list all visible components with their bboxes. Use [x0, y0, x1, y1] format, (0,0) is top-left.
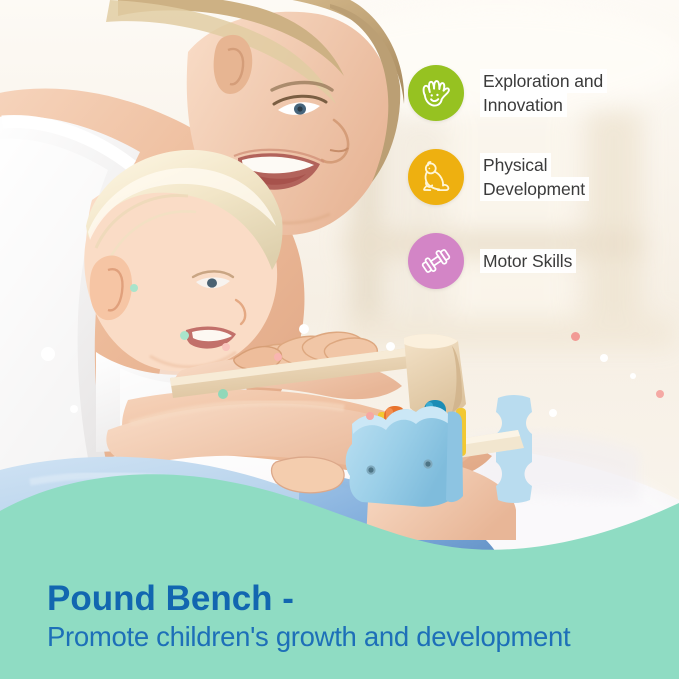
product-title: Pound Bench -: [47, 578, 667, 619]
feature-item-physical-development[interactable]: Physical Development: [408, 142, 679, 212]
feature-label-line2: Development: [480, 177, 589, 201]
confetti-dot: [366, 412, 374, 420]
confetti-dot: [70, 405, 78, 413]
confetti-dot: [180, 331, 189, 340]
feature-list: Exploration and Innovation: [408, 58, 679, 310]
confetti-dot: [222, 343, 230, 351]
banner-text-block: Pound Bench - Promote children's growth …: [47, 578, 667, 653]
confetti-dot: [274, 353, 282, 361]
product-subtitle: Promote children's growth and developmen…: [47, 620, 667, 653]
feature-label-line2: Innovation: [480, 93, 567, 117]
confetti-dot: [549, 409, 557, 417]
confetti-dot: [218, 389, 228, 399]
badge-motor-skills: [408, 233, 464, 289]
badge-physical-development: [408, 149, 464, 205]
dumbbell-icon: [418, 243, 454, 279]
confetti-dot: [630, 373, 636, 379]
confetti-dot: [656, 390, 664, 398]
badge-exploration-and-innovation: [408, 65, 464, 121]
confetti-dot: [571, 332, 580, 341]
feature-label-line1: Physical: [480, 153, 551, 177]
feature-label-motor-skills: Motor Skills: [480, 249, 576, 273]
crawling-baby-icon: [417, 158, 455, 196]
hand-smiley-icon: [417, 74, 455, 112]
confetti-dot: [299, 324, 309, 334]
feature-label-line1: Motor Skills: [480, 249, 576, 273]
feature-item-exploration-and-innovation[interactable]: Exploration and Innovation: [408, 58, 679, 128]
feature-label-line1: Exploration and: [480, 69, 607, 93]
confetti-dot: [41, 347, 55, 361]
feature-label-physical-development: Physical Development: [480, 153, 589, 201]
confetti-dot: [600, 354, 608, 362]
feature-label-exploration-and-innovation: Exploration and Innovation: [480, 69, 607, 117]
bottom-banner: Pound Bench - Promote children's growth …: [0, 469, 679, 679]
product-infographic: Exploration and Innovation: [0, 0, 679, 679]
feature-item-motor-skills[interactable]: Motor Skills: [408, 226, 679, 296]
confetti-dot: [386, 342, 395, 351]
confetti-dot: [130, 284, 138, 292]
